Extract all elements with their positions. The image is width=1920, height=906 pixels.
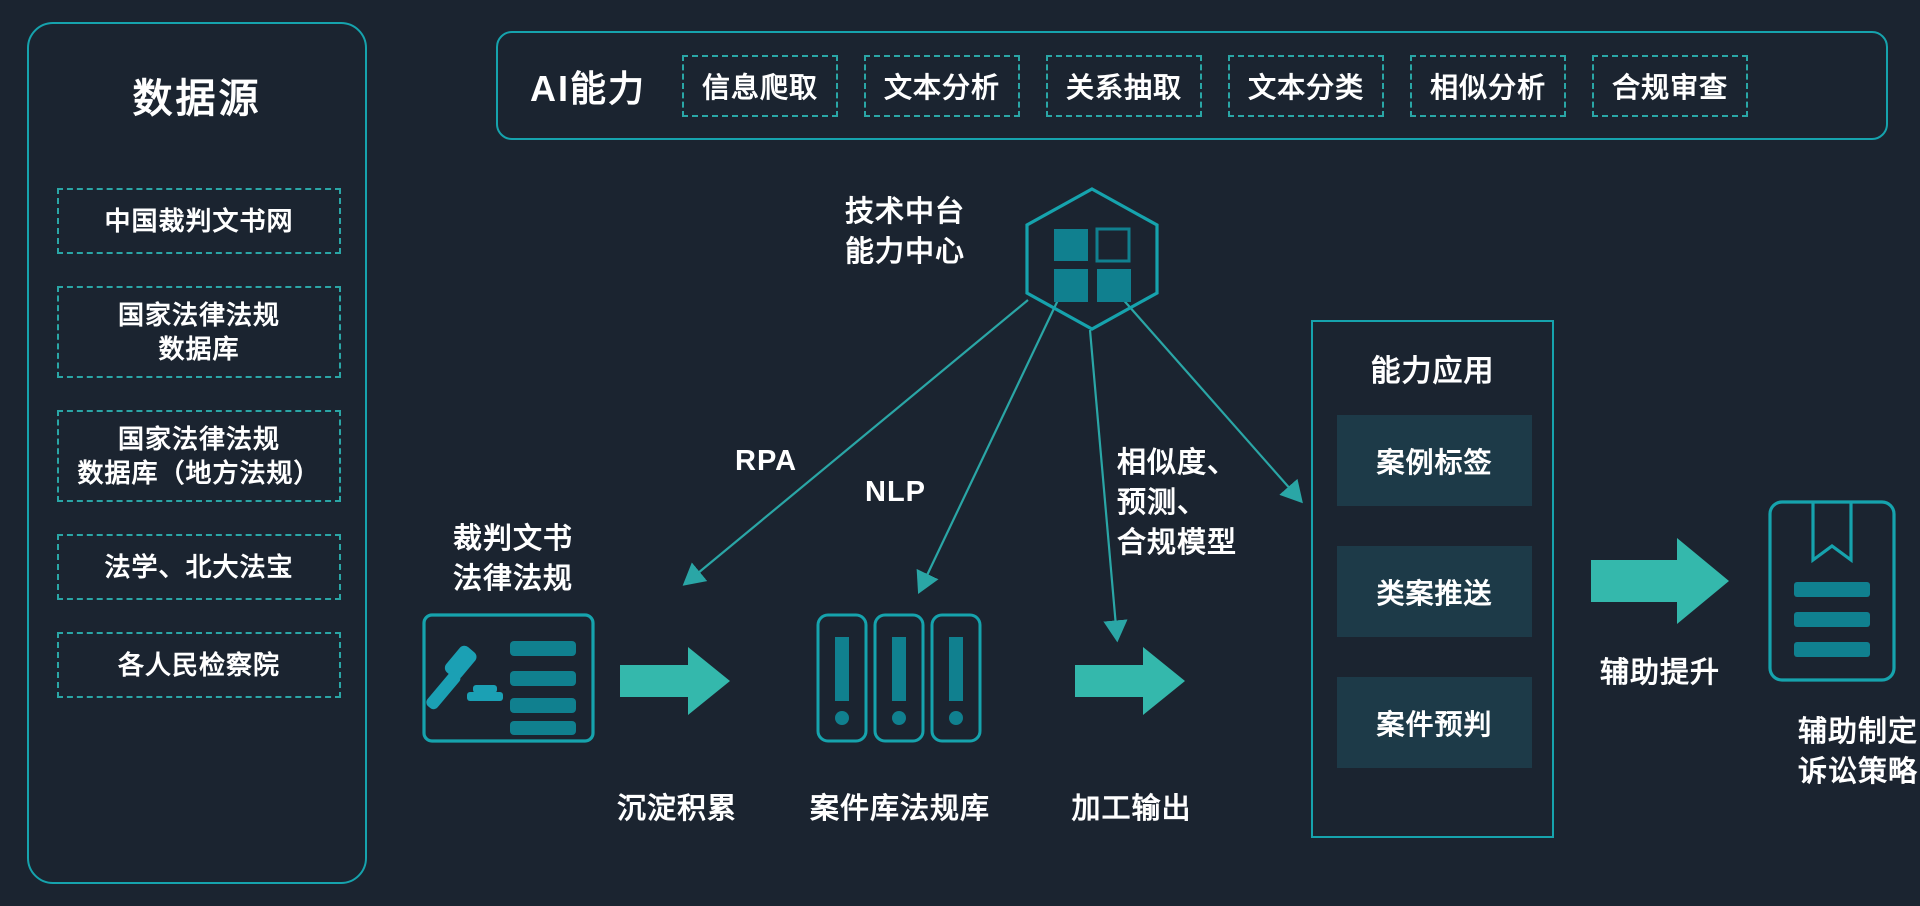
right-arrow-icon-1: [620, 645, 732, 722]
ability-item-case-push[interactable]: 类案推送: [1337, 546, 1532, 637]
gavel-document-icon: [422, 613, 595, 748]
flow-label-similarity-line2: 预测、: [1117, 483, 1237, 523]
docs-caption-line1: 裁判文书: [423, 519, 603, 559]
data-source-item-label: 国家法律法规数据库（地方法规）: [77, 422, 320, 490]
data-source-item-5[interactable]: 各人民检察院: [57, 632, 341, 698]
hub-label: 技术中台 能力中心: [845, 192, 965, 272]
data-source-item-label: 中国裁判文书网: [104, 204, 293, 238]
docs-caption: 裁判文书 法律法规: [423, 519, 603, 599]
ability-application-panel: 能力应用 案例标签 类案推送 案件预判: [1311, 320, 1554, 838]
ai-capability-chip-list: 信息爬取 文本分析 关系抽取 文本分类 相似分析 合规审查: [682, 55, 1748, 117]
accumulate-caption: 沉淀积累: [612, 789, 742, 829]
data-source-item-4[interactable]: 法学、北大法宝: [57, 534, 341, 600]
ability-item-case-predict[interactable]: 案件预判: [1337, 677, 1532, 768]
litigation-strategy-caption: 辅助制定 诉讼策略: [1748, 712, 1920, 792]
hub-label-line2: 能力中心: [845, 232, 965, 272]
litigation-strategy-line1: 辅助制定: [1748, 712, 1920, 752]
ai-chip-compliance-review[interactable]: 合规审查: [1592, 55, 1748, 117]
data-source-item-2[interactable]: 国家法律法规数据库: [57, 286, 341, 378]
data-source-list: 中国裁判文书网 国家法律法规数据库 国家法律法规数据库（地方法规） 法学、北大法…: [57, 188, 341, 730]
right-arrow-icon-3: [1591, 536, 1731, 631]
data-source-item-label: 国家法律法规数据库: [118, 298, 280, 366]
flow-label-similarity-line3: 合规模型: [1117, 523, 1237, 563]
ai-chip-text-analysis[interactable]: 文本分析: [864, 55, 1020, 117]
bookmark-document-icon: [1768, 500, 1896, 687]
flow-label-nlp: NLP: [865, 472, 926, 512]
ai-chip-relation-extraction[interactable]: 关系抽取: [1046, 55, 1202, 117]
data-source-panel: 数据源 中国裁判文书网 国家法律法规数据库 国家法律法规数据库（地方法规） 法学…: [27, 22, 367, 884]
ai-chip-text-classification[interactable]: 文本分类: [1228, 55, 1384, 117]
diagram-canvas: 数据源 中国裁判文书网 国家法律法规数据库 国家法律法规数据库（地方法规） 法学…: [0, 0, 1920, 906]
data-source-item-1[interactable]: 中国裁判文书网: [57, 188, 341, 254]
data-source-item-label: 法学、北大法宝: [104, 550, 293, 584]
ability-item-case-tag[interactable]: 案例标签: [1337, 415, 1532, 506]
process-output-caption: 加工输出: [1064, 789, 1199, 829]
flow-label-similarity-line1: 相似度、: [1117, 443, 1237, 483]
data-source-title: 数据源: [29, 66, 365, 124]
hub-label-line1: 技术中台: [845, 192, 965, 232]
flow-label-rpa: RPA: [735, 441, 797, 481]
ai-capability-title: AI能力: [530, 60, 646, 112]
ai-chip-crawl[interactable]: 信息爬取: [682, 55, 838, 117]
docs-caption-line2: 法律法规: [423, 559, 603, 599]
connector-nlp: [920, 300, 1058, 590]
right-arrow-icon-2: [1075, 645, 1187, 722]
flow-label-similarity: 相似度、 预测、 合规模型: [1117, 443, 1237, 563]
assist-improve-label: 辅助提升: [1600, 649, 1720, 691]
server-rack-icon: [816, 613, 983, 748]
ability-application-title: 能力应用: [1313, 346, 1552, 390]
litigation-strategy-line2: 诉讼策略: [1748, 752, 1920, 792]
ai-capability-bar: AI能力 信息爬取 文本分析 关系抽取 文本分类 相似分析 合规审查: [496, 31, 1888, 140]
hexagon-grid-icon: [1022, 185, 1162, 333]
ability-application-list: 案例标签 类案推送 案件预判: [1337, 415, 1532, 808]
connector-output: [1090, 330, 1117, 638]
ai-chip-similarity[interactable]: 相似分析: [1410, 55, 1566, 117]
case-law-db-caption: 案件库法规库: [800, 789, 1000, 829]
data-source-item-label: 各人民检察院: [118, 648, 280, 682]
data-source-item-3[interactable]: 国家法律法规数据库（地方法规）: [57, 410, 341, 502]
